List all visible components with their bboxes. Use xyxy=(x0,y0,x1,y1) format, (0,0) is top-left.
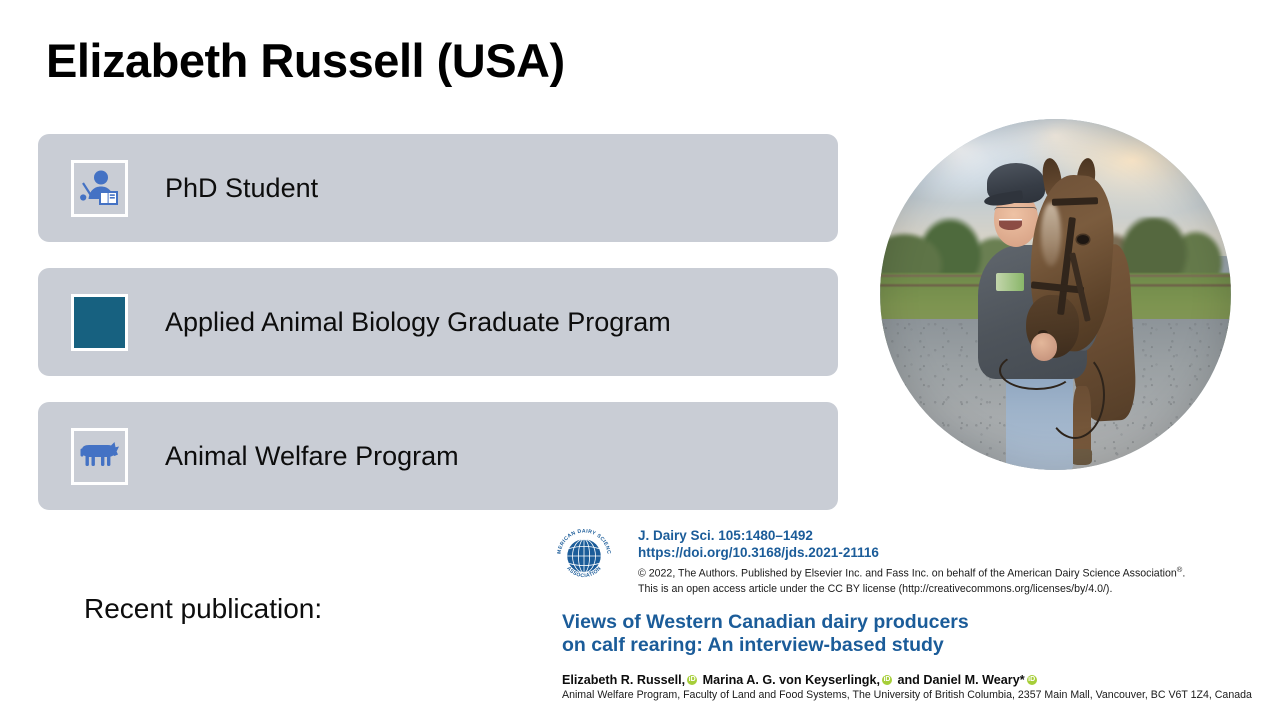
publication-affiliation: Animal Welfare Program, Faculty of Land … xyxy=(562,689,1265,702)
copyright-text: © 2022, The Authors. Published by Elsevi… xyxy=(638,568,1177,580)
copyright-line-1: © 2022, The Authors. Published by Elsevi… xyxy=(638,563,1185,581)
info-bar-label: Animal Welfare Program xyxy=(165,441,459,472)
teal-square-icon xyxy=(71,294,128,351)
slide-canvas: Elizabeth Russell (USA) PhD Student Appl… xyxy=(0,0,1280,720)
recent-publication-label: Recent publication: xyxy=(84,593,322,625)
orcid-icon[interactable]: iD xyxy=(882,675,892,685)
lecturer-presentation-icon xyxy=(71,160,128,217)
author-name-1: Elizabeth R. Russell, xyxy=(562,673,685,687)
publication-title-line-1: Views of Western Canadian dairy producer… xyxy=(562,611,1265,634)
orcid-label: iD xyxy=(689,676,696,683)
orcid-icon[interactable]: iD xyxy=(1027,675,1037,685)
copyright-line-2: This is an open access article under the… xyxy=(638,583,1185,596)
publication-title[interactable]: Views of Western Canadian dairy producer… xyxy=(562,611,1265,657)
copyright-period: . xyxy=(1182,568,1185,580)
page-title: Elizabeth Russell (USA) xyxy=(46,33,565,88)
journal-citation: J. Dairy Sci. 105:1480–1492 xyxy=(638,528,1185,545)
author-name-2: Marina A. G. von Keyserlingk, xyxy=(699,673,880,687)
info-bar-phd-student[interactable]: PhD Student xyxy=(38,134,838,242)
recent-publication-card: AMERICAN DAIRY SCIENCE ASSOCIATION J. Da… xyxy=(553,524,1265,701)
photo-vignette xyxy=(880,119,1231,470)
publication-title-line-2: on calf rearing: An interview-based stud… xyxy=(562,634,1265,657)
info-bar-label: Applied Animal Biology Graduate Program xyxy=(165,307,671,338)
orcid-icon[interactable]: iD xyxy=(687,675,697,685)
publication-header: AMERICAN DAIRY SCIENCE ASSOCIATION J. Da… xyxy=(553,524,1265,596)
author-name-3: and Daniel M. Weary* xyxy=(894,673,1025,687)
american-dairy-science-association-seal: AMERICAN DAIRY SCIENCE ASSOCIATION xyxy=(553,525,615,587)
info-bar-graduate-program[interactable]: Applied Animal Biology Graduate Program xyxy=(38,268,838,376)
portrait-photo xyxy=(880,119,1231,470)
publication-header-text: J. Dairy Sci. 105:1480–1492 https://doi.… xyxy=(638,524,1185,596)
orcid-label: iD xyxy=(1028,676,1035,683)
orcid-label: iD xyxy=(883,676,890,683)
info-bar-animal-welfare[interactable]: Animal Welfare Program xyxy=(38,402,838,510)
publication-authors: Elizabeth R. Russell, iD Marina A. G. vo… xyxy=(562,673,1265,687)
journal-doi[interactable]: https://doi.org/10.3168/jds.2021-21116 xyxy=(638,545,1185,562)
cow-icon xyxy=(71,428,128,485)
info-bar-label: PhD Student xyxy=(165,173,318,204)
